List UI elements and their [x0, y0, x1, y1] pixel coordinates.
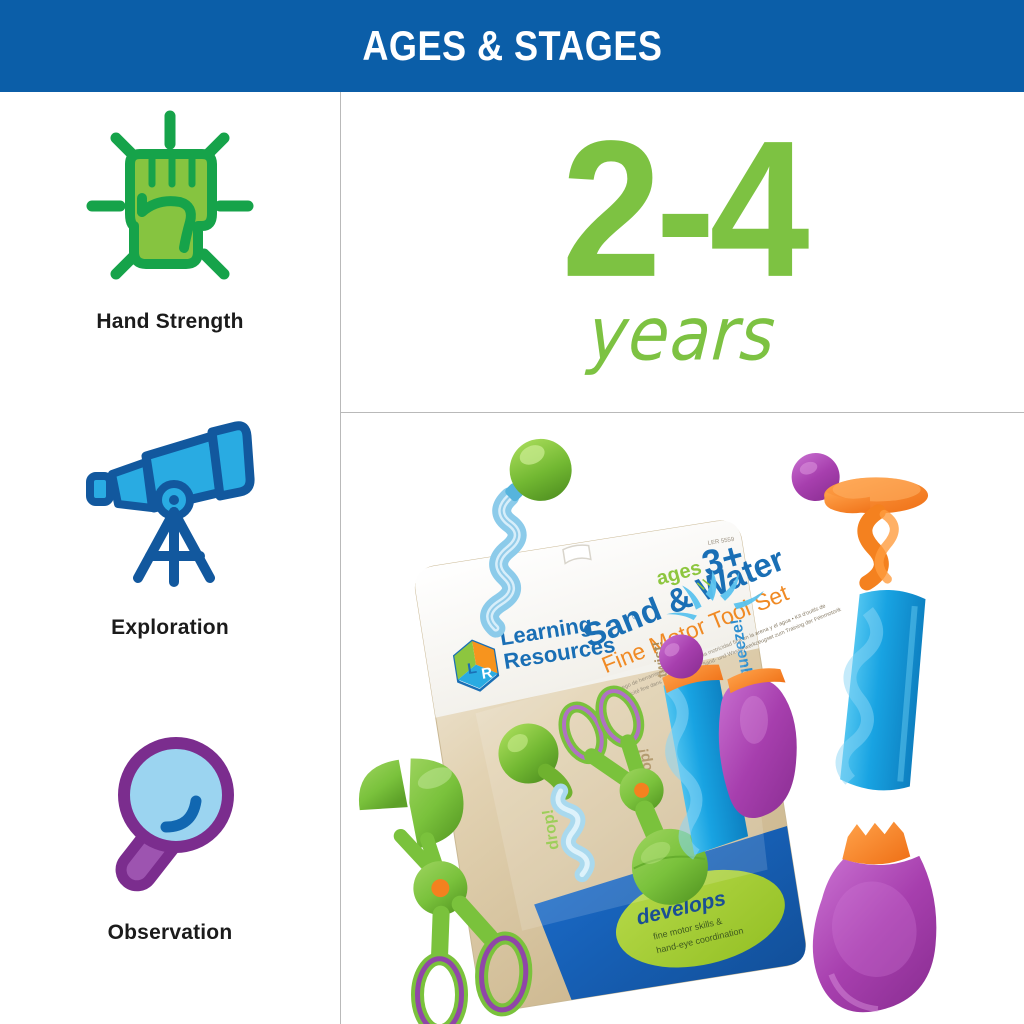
telescope-icon — [80, 412, 260, 602]
age-range-value: 2-4 — [561, 125, 803, 296]
ages-and-stages-infographic: AGES & STAGES — [0, 0, 1024, 1024]
page-title: AGES & STAGES — [362, 22, 662, 70]
magnifying-glass-icon — [80, 717, 260, 907]
fist-strength-icon — [80, 106, 260, 296]
feature-exploration: Exploration — [0, 412, 340, 640]
feature-label: Hand Strength — [96, 310, 243, 334]
toy-squeeze-bulb-loose — [804, 819, 942, 1015]
feature-observation: Observation — [0, 717, 340, 945]
feature-label: Observation — [108, 921, 233, 945]
product-photo-panel: L R Learning Resources ® Sand & Water Fi… — [341, 413, 1024, 1024]
age-range-unit: years — [586, 291, 779, 377]
age-range-panel: 2-4 years — [341, 92, 1024, 412]
feature-label: Exploration — [111, 616, 229, 640]
feature-sidebar: Hand Strength — [0, 92, 340, 1024]
product-photo: L R Learning Resources ® Sand & Water Fi… — [341, 413, 1024, 1024]
feature-hand-strength: Hand Strength — [0, 106, 340, 334]
header-banner: AGES & STAGES — [0, 0, 1024, 92]
